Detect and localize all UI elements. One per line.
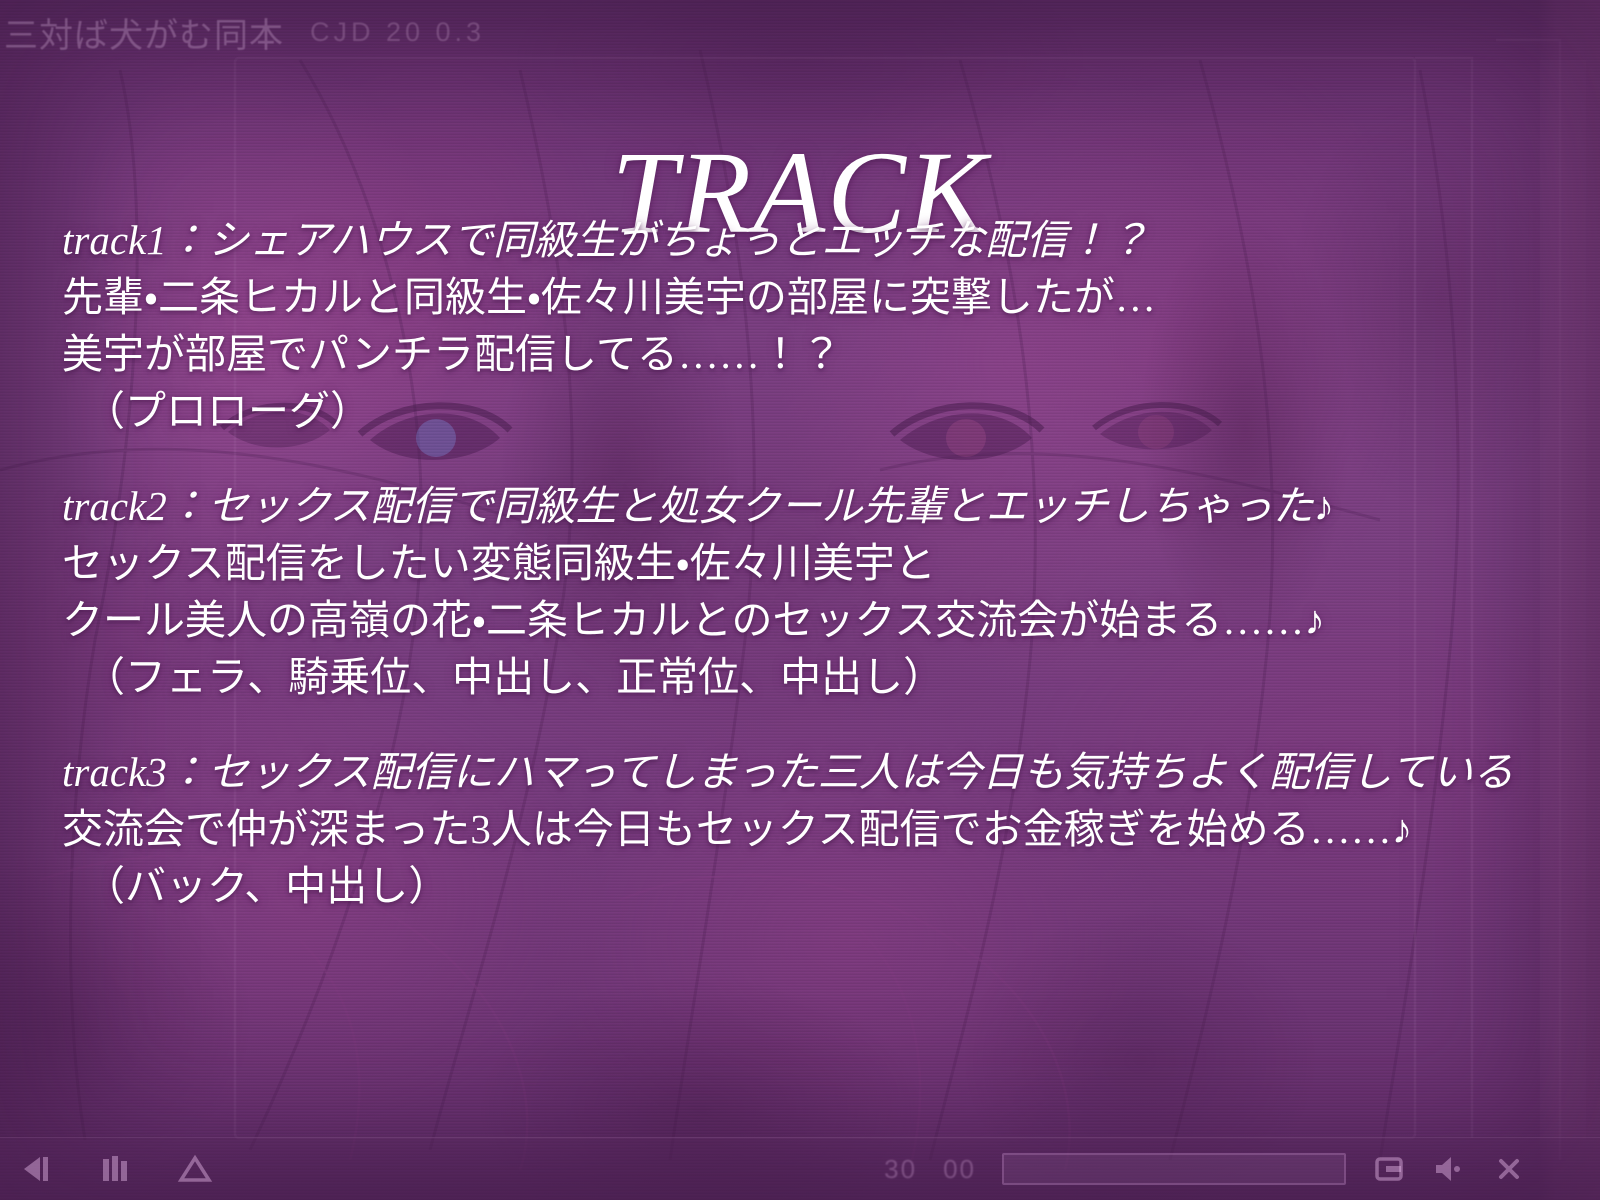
track-1-note: （プロローグ） (62, 383, 1570, 440)
total-time: 00 (943, 1154, 976, 1185)
media-player-bar: 30 00 (0, 1137, 1600, 1200)
track-list: track1：シェアハウスで同級生がちょっとエッチな配信！？ 先輩・二条ヒカルと… (62, 212, 1570, 915)
track-1-description-line-2: 美宇が部屋でパンチラ配信してる……！？ (62, 326, 1570, 383)
track-3-description-line-1: 交流会で仲が深まった3人は今日もセックス配信でお金稼ぎを始める……♪ (62, 801, 1570, 858)
track-3-note: （バック、中出し） (62, 858, 1570, 915)
repeat-icon[interactable] (1372, 1152, 1406, 1186)
close-icon[interactable] (1494, 1154, 1524, 1184)
release-artwork-track-listing: 三対ば犬がむ同本 CJD 20 0.3 TRACK track1：シェアハウスで… (0, 0, 1600, 1200)
track-block-2: track2：セックス配信で同級生と処女クール先輩とエッチしちゃった♪ セックス… (62, 478, 1570, 706)
track-1-headline: track1：シェアハウスで同級生がちょっとエッチな配信！？ (62, 212, 1570, 269)
content-area: TRACK track1：シェアハウスで同級生がちょっとエッチな配信！？ 先輩・… (0, 0, 1600, 1200)
progress-bar[interactable] (1002, 1153, 1346, 1185)
track-2-headline: track2：セックス配信で同級生と処女クール先輩とエッチしちゃった♪ (62, 478, 1570, 535)
elapsed-time: 30 (884, 1154, 917, 1185)
track-2-description-line-2: クール美人の高嶺の花・二条ヒカルとのセックス交流会が始まる……♪ (62, 592, 1570, 649)
previous-track-icon[interactable] (20, 1152, 54, 1186)
track-2-note: （フェラ、騎乗位、中出し、正常位、中出し） (62, 649, 1570, 706)
volume-icon[interactable] (1432, 1152, 1468, 1186)
track-1-description-line-1: 先輩・二条ヒカルと同級生・佐々川美宇の部屋に突撃したが… (62, 269, 1570, 326)
play-triangle-icon[interactable] (176, 1152, 214, 1186)
player-transport-controls (0, 1152, 214, 1186)
track-2-description-line-1: セックス配信をしたい変態同級生・佐々川美宇と (62, 535, 1570, 592)
track-block-3: track3：セックス配信にハマってしまった三人は今日も気持ちよく配信している … (62, 744, 1570, 915)
player-status-controls: 30 00 (884, 1152, 1600, 1186)
track-3-headline: track3：セックス配信にハマってしまった三人は今日も気持ちよく配信している (62, 744, 1570, 801)
equalizer-icon[interactable] (98, 1152, 132, 1186)
track-block-1: track1：シェアハウスで同級生がちょっとエッチな配信！？ 先輩・二条ヒカルと… (62, 212, 1570, 440)
